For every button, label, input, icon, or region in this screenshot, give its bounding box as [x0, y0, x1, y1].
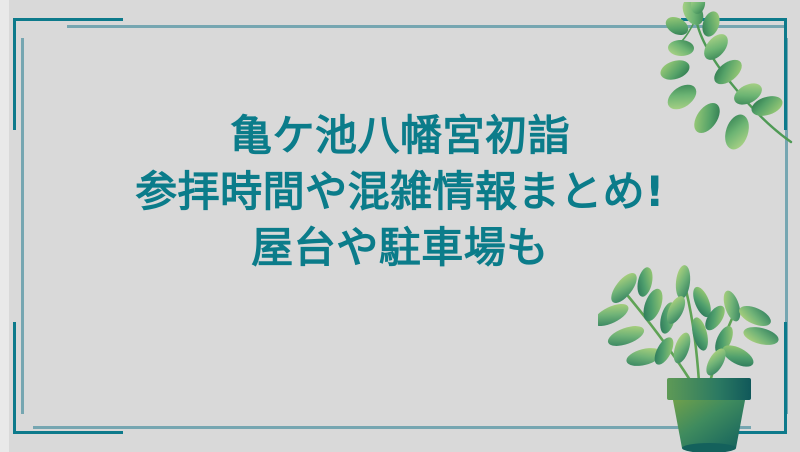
frame-inner-line-bottom: [33, 426, 751, 429]
title-line-2: 参拝時間や混雑情報まとめ!: [0, 164, 800, 220]
thumbnail-canvas: 亀ケ池八幡宮初詣 参拝時間や混雑情報まとめ! 屋台や駐車場も: [0, 0, 800, 452]
frame-inner-line-top: [67, 25, 785, 28]
frame-corner-bracket-bottom-right: [681, 322, 787, 434]
page-title: 亀ケ池八幡宮初詣 参拝時間や混雑情報まとめ! 屋台や駐車場も: [0, 108, 800, 276]
title-line-1: 亀ケ池八幡宮初詣: [0, 108, 800, 164]
frame-corner-bracket-bottom-left: [13, 322, 123, 434]
title-line-3: 屋台や駐車場も: [0, 220, 800, 276]
